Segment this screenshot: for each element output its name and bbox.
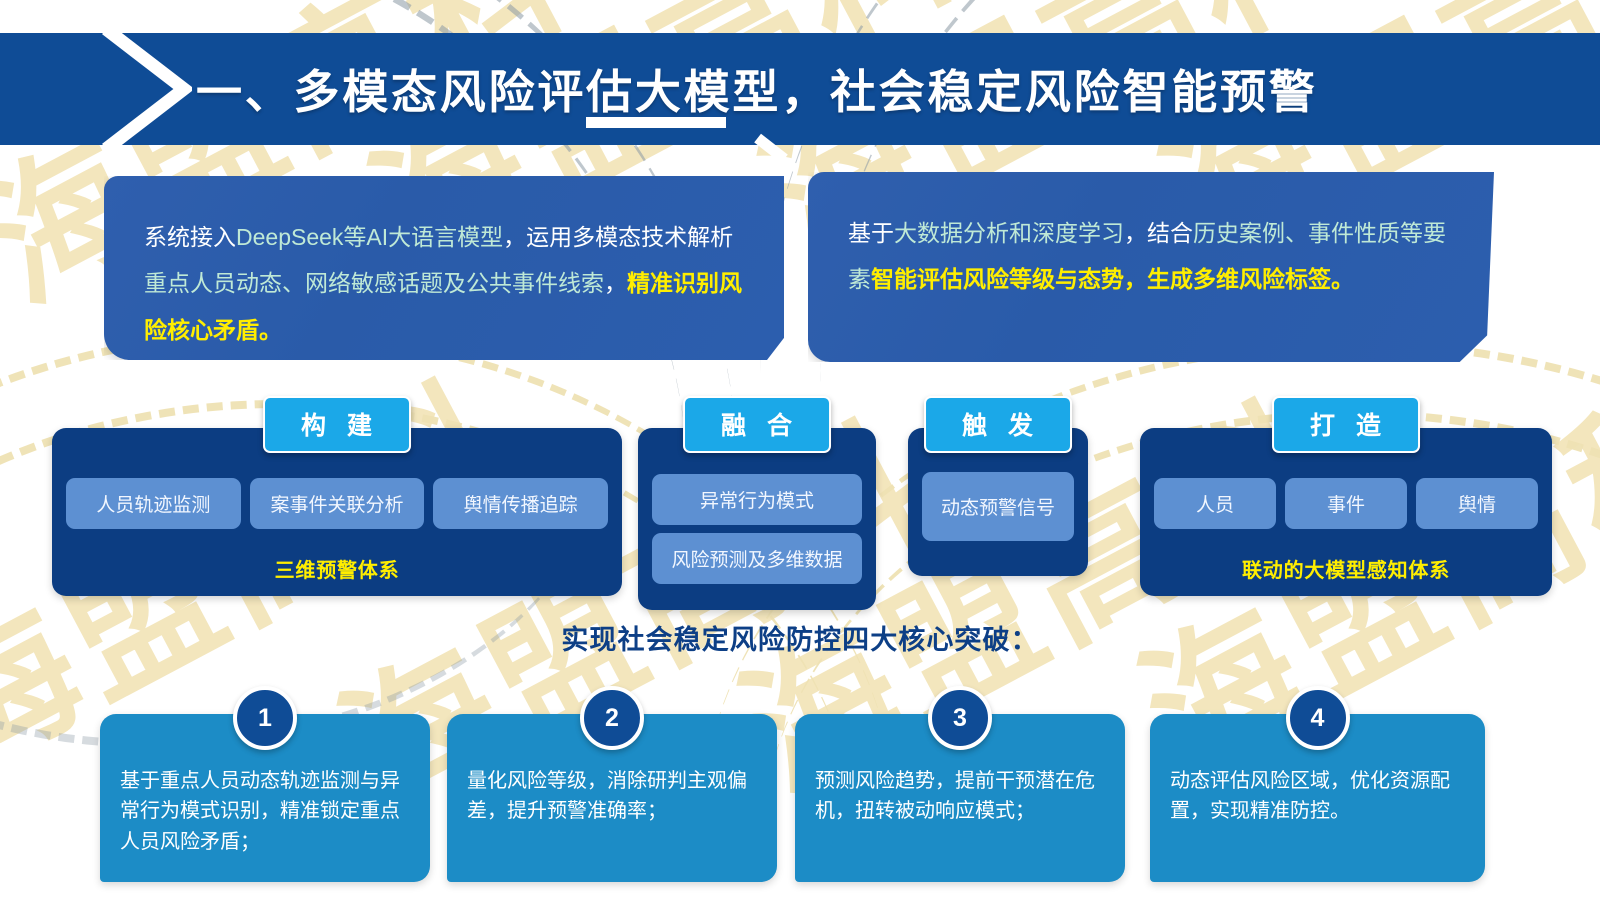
group-chip-list-4: 人员 事件 舆情	[1154, 478, 1538, 529]
slide-root: 海盟高科 海盟高科 海盟高科 海盟高科 海盟高科 海盟高科 海盟高科 海盟高科 …	[0, 0, 1600, 900]
chip-item[interactable]: 人员	[1154, 478, 1276, 529]
card-text: 动态评估风险区域，优化资源配置，实现精准防控。	[1170, 766, 1465, 827]
statement-run: 基于	[848, 220, 894, 246]
statement-run: ，结合	[1124, 220, 1193, 246]
card-number-badge: 4	[1286, 686, 1350, 750]
chip-item[interactable]: 舆情	[1416, 478, 1538, 529]
chip-item[interactable]: 风险预测及多维数据	[652, 533, 862, 584]
card-text: 预测风险趋势，提前干预潜在危机，扭转被动响应模式；	[815, 766, 1105, 827]
group-panel-1[interactable]: 构 建 人员轨迹监测 案事件关联分析 舆情传播追踪 三维预警体系	[52, 428, 622, 596]
chip-item[interactable]: 事件	[1285, 478, 1407, 529]
statement-box-left: 系统接入DeepSeek等AI大语言模型，运用多模态技术解析重点人员动态、网络敏…	[104, 176, 784, 360]
group-panel-4[interactable]: 打 造 人员 事件 舆情 联动的大模型感知体系	[1140, 428, 1552, 596]
section-heading: 实现社会稳定风险防控四大核心突破：	[0, 618, 1600, 657]
group-footer-label: 三维预警体系	[52, 554, 622, 583]
card-number-badge: 3	[928, 686, 992, 750]
group-footer-label: 联动的大模型感知体系	[1140, 554, 1552, 583]
group-panel-row: 构 建 人员轨迹监测 案事件关联分析 舆情传播追踪 三维预警体系 融 合 异常行…	[0, 396, 1600, 596]
statement-run: ，	[604, 270, 627, 296]
breakthrough-card-4[interactable]: 4 动态评估风险区域，优化资源配置，实现精准防控。	[1150, 714, 1485, 882]
group-chip-list-1: 人员轨迹监测 案事件关联分析 舆情传播追踪	[66, 478, 608, 529]
breakthrough-card-2[interactable]: 2 量化风险等级，消除研判主观偏差，提升预警准确率；	[447, 714, 777, 882]
chip-item[interactable]: 动态预警信号	[922, 472, 1074, 541]
card-number-badge: 2	[580, 686, 644, 750]
page-title: 一、多模态风险评估大模型，社会稳定风险智能预警	[196, 56, 1317, 122]
statement-run: DeepSeek等AI大语言模型	[236, 224, 503, 250]
card-text: 基于重点人员动态轨迹监测与异常行为模式识别，精准锁定重点人员风险矛盾；	[120, 766, 410, 857]
statement-run: 系统接入	[144, 224, 236, 250]
title-bar: 一、多模态风险评估大模型，社会稳定风险智能预警	[0, 33, 1600, 145]
statement-run: 智能评估风险等级与态势，生成多维风险标签。	[871, 266, 1354, 292]
statement-box-right: 基于大数据分析和深度学习，结合历史案例、事件性质等要素智能评估风险等级与态势，生…	[808, 172, 1494, 362]
group-panel-3[interactable]: 触 发 动态预警信号	[908, 428, 1088, 576]
group-tab-4[interactable]: 打 造	[1272, 396, 1420, 453]
chip-item[interactable]: 舆情传播追踪	[433, 478, 608, 529]
breakthrough-card-1[interactable]: 1 基于重点人员动态轨迹监测与异常行为模式识别，精准锁定重点人员风险矛盾；	[100, 714, 430, 882]
chip-item[interactable]: 人员轨迹监测	[66, 478, 241, 529]
statement-run: ，运用多模态技术解析	[503, 224, 733, 250]
group-tab-3[interactable]: 触 发	[924, 396, 1072, 453]
card-text: 量化风险等级，消除研判主观偏差，提升预警准确率；	[467, 766, 757, 827]
group-chip-list-3: 动态预警信号	[922, 472, 1074, 541]
card-number-badge: 1	[233, 686, 297, 750]
group-chip-list-2: 异常行为模式 风险预测及多维数据	[652, 474, 862, 584]
group-panel-2[interactable]: 融 合 异常行为模式 风险预测及多维数据	[638, 428, 876, 610]
chevron-right-icon	[100, 29, 192, 149]
breakthrough-card-3[interactable]: 3 预测风险趋势，提前干预潜在危机，扭转被动响应模式；	[795, 714, 1125, 882]
chip-item[interactable]: 异常行为模式	[652, 474, 862, 525]
group-tab-2[interactable]: 融 合	[683, 396, 831, 453]
card-row: 1 基于重点人员动态轨迹监测与异常行为模式识别，精准锁定重点人员风险矛盾； 2 …	[0, 700, 1600, 890]
group-tab-1[interactable]: 构 建	[263, 396, 411, 453]
chip-item[interactable]: 案事件关联分析	[250, 478, 425, 529]
statement-run: 大数据分析和深度学习	[894, 220, 1124, 246]
statement-run: 重点人员动态、网络敏感话题及公共事件线索	[144, 270, 604, 296]
